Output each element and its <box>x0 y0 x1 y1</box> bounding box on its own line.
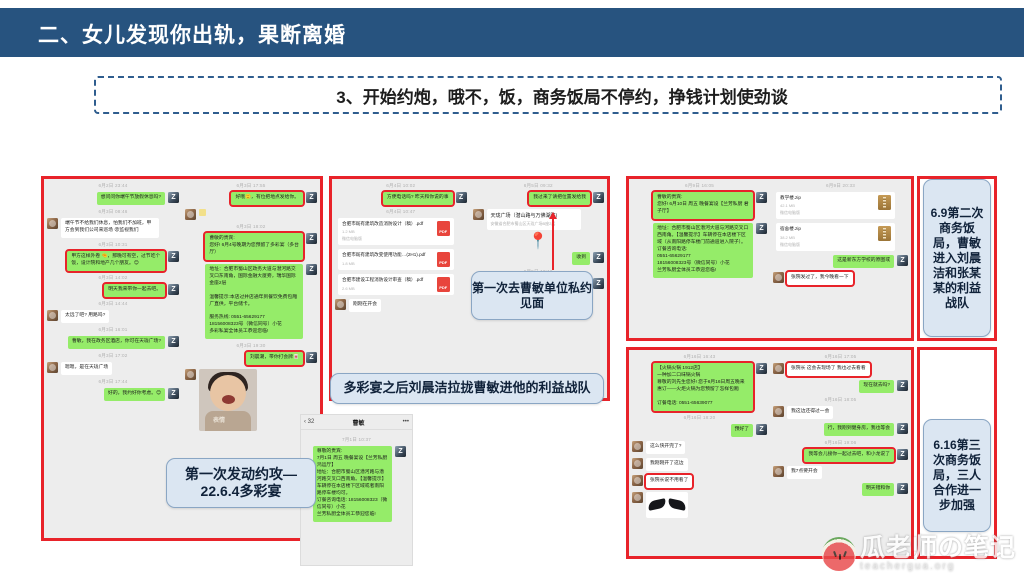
file-attachment[interactable]: 合肥市既有建筑改变使用功能…(2H1).pdf1.8 MBPDF <box>338 249 454 270</box>
avatar-self[interactable] <box>756 223 767 234</box>
file-name: 合肥市建设工程消防设计审查（稿）.pdf <box>342 277 434 283</box>
watermark-title: 瓜老师の笔记 <box>860 536 1016 561</box>
avatar-contact[interactable] <box>185 209 196 220</box>
message-row: 明天我来带你一起去吧。 <box>44 284 182 297</box>
message-bubble-highlighted[interactable]: 曹敏的贵宾: 您好! 6月10日 周五 晚餐宴设【兰芳私厨 君子厅】 <box>653 192 753 219</box>
pdf-file-icon: PDF <box>437 277 450 292</box>
message-row <box>182 209 320 220</box>
message-bubble[interactable]: 这么快开完了? <box>646 441 685 454</box>
watermark: 瓜老师の笔记 teachergua.org <box>822 536 1016 572</box>
message-row: 尊敬的贵宾: 7月1日 周五 晚餐宴设【兰芳私厨 鸿运厅】 地址：合肥市蜀山区潜… <box>304 446 409 522</box>
message-timestamp: 6月3日 16:01 <box>44 327 182 333</box>
avatar-self[interactable] <box>756 424 767 435</box>
message-bubble-highlighted[interactable]: 【火锅火锅 1912店】 一种加二口味锅火锅 尊敬的刘先生您好! 您于6月16日… <box>653 363 753 411</box>
subtitle-box: 3、开始约炮，哦不，饭，商务饭局不停约，挣钱计划使劲谈 <box>94 76 1002 114</box>
chat-column[interactable]: 6月16日 17:05张院长 这会去现场了 我也过去看看现在就去吗?6月16日 … <box>770 350 911 556</box>
back-icon[interactable]: ‹ 32 <box>304 419 314 425</box>
message-bubble[interactable]: 我7点要开会 <box>787 466 822 479</box>
file-name: 宿舍楼.zip <box>780 226 875 232</box>
message-row: 太远了吧? 用路吗? <box>44 310 182 323</box>
file-source: 微信电脑版 <box>780 210 875 216</box>
zip-file-icon <box>878 195 891 210</box>
location-title: 天珑广场（潜山路与万佛湖路) <box>491 212 578 219</box>
message-timestamp: 6月4日 10:47 <box>332 209 470 215</box>
message-timestamp: 6月16日 19:06 <box>770 440 911 446</box>
avatar-self[interactable] <box>306 233 317 244</box>
callout-recruit-team: 多彩宴之后刘晨洁拉拢曹敏进他的利益战队 <box>330 373 604 404</box>
message-timestamp: 6月3日 08:46 <box>44 209 182 215</box>
chat-window-titlebar: ‹ 32 曹敏 ••• <box>301 415 412 430</box>
chat-column[interactable]: 6月2日 23:44想问问你端午节放假休息吗?6月3日 08:46端午节不给我们… <box>44 179 182 538</box>
avatar-contact[interactable] <box>473 209 484 220</box>
message-bubble-highlighted[interactable]: 我等会儿接你一起过去吧，和小龙说了 <box>804 449 894 462</box>
callout-second-dinner: 6.9第二次商务饭局，曹敏进入刘晨洁和张某某的利益战队 <box>923 179 991 337</box>
more-options-icon[interactable]: ••• <box>403 419 409 425</box>
page-title: 二、女儿发现你出轨，果断离婚 <box>38 19 346 49</box>
message-row: 预好了 <box>629 424 770 437</box>
message-timestamp: 6月3日 17:44 <box>44 379 182 385</box>
avatar-self[interactable] <box>897 255 908 266</box>
avatar-self[interactable] <box>593 192 604 203</box>
message-bubble[interactable]: 明天错和你 <box>862 483 894 496</box>
location-address: 安徽省合肥市蜀山区天珑广场B座2层 <box>491 221 578 227</box>
message-row: 我过来了请把位置发给我 <box>470 192 608 205</box>
chat-column[interactable]: 6月4日 10:02方便电话吗? 昨天和你说的事6月4日 10:47合肥市既有建… <box>332 179 470 398</box>
avatar-contact[interactable] <box>185 369 196 380</box>
message-row: 张院长说不用看了 <box>629 475 770 488</box>
message-timestamp: 6月16日 18:05 <box>770 397 911 403</box>
message-bubble-highlighted[interactable]: 刘晨潮，带你打会牌🀄 <box>246 352 303 365</box>
avatar-contact[interactable] <box>632 441 643 452</box>
message-row: 【火锅火锅 1912店】 一种加二口味锅火锅 尊敬的刘先生您好! 您于6月16日… <box>629 363 770 411</box>
callout-first-invite: 第一次发动约攻—22.6.4多彩宴 <box>166 458 316 508</box>
avatar-self[interactable] <box>306 264 317 275</box>
message-row: 刘晨潮，带你打会牌🀄 <box>182 352 320 365</box>
message-row: 想问问你端午节放假休息吗? <box>44 192 182 205</box>
sticker-message[interactable] <box>646 492 688 518</box>
avatar-self[interactable] <box>306 352 317 363</box>
message-row <box>629 492 770 518</box>
watermelon-icon <box>822 537 856 571</box>
message-row: 这是新东方学校的原图或 <box>770 255 911 268</box>
message-timestamp: 6月16日 17:05 <box>770 354 911 360</box>
pdf-file-icon: PDF <box>437 221 450 236</box>
avatar-self[interactable] <box>395 446 406 457</box>
message-row: 合肥市建设工程消防设计审查（稿）.pdf2.6 MBPDF <box>332 274 470 295</box>
avatar-contact[interactable] <box>632 475 643 486</box>
avatar-self[interactable] <box>756 192 767 203</box>
message-timestamp: 6月3日 17:02 <box>44 353 182 359</box>
avatar-contact[interactable] <box>335 299 346 310</box>
message-bubble[interactable]: 我刚刚开了这边 <box>646 458 688 471</box>
file-size: 42.1 MB <box>780 203 875 208</box>
message-row: 合肥市既有建筑改变使用功能…(2H1).pdf1.8 MBPDF <box>332 249 470 270</box>
file-source: 微信电脑版 <box>342 236 434 242</box>
message-timestamp: 6月3日 14:02 <box>44 275 182 281</box>
message-row: 好的，我约好你考虑。😊 <box>44 388 182 401</box>
avatar-self[interactable] <box>897 483 908 494</box>
message-row: 地址：合肥市蜀山区潜河大道与河路交叉口西南角。【温馨提示】车辆停在本店楼下区域（… <box>629 223 770 278</box>
message-row: 张院发过了，我今晚看一下 <box>770 272 911 285</box>
file-size: 1.2 MB <box>342 229 434 234</box>
callout-third-dinner: 6.16第三次商务饭局，三人合作进一步加强 <box>923 419 991 532</box>
avatar-self[interactable] <box>168 388 179 399</box>
message-bubble[interactable]: 我这边还得过一会 <box>787 406 833 419</box>
message-bubble[interactable]: 曹敏，我在政务区酒店，你可在天珑广场? <box>68 336 165 349</box>
message-bubble-highlighted[interactable]: 曹敏的贵宾: 您好! 6月4号晚期为您预留了多彩宴（多台厅） <box>205 233 303 260</box>
avatar-self[interactable] <box>897 423 908 434</box>
avatar-contact[interactable] <box>632 492 643 503</box>
file-attachment[interactable]: 合肥市既有建筑改造消防设计（稿）.pdf1.2 MB微信电脑版PDF <box>338 218 454 245</box>
message-bubble[interactable]: 端午节不给我们休息，怕我们不加班，甲方会到我们公司来巡场 😡监视我们 <box>61 218 159 238</box>
message-row: 宿舍楼.zip38.2 MB微信电脑版 <box>770 223 911 250</box>
message-bubble[interactable]: 收到 <box>572 252 590 265</box>
message-bubble[interactable]: 地址：合肥市蜀山区政务大道与潜河路交叉口东南角，国际金融大厦旁，瑞华国际金座2层… <box>205 264 303 340</box>
screenshot-panel-right-top: 6月9日 16:05曹敏的贵宾: 您好! 6月10日 周五 晚餐宴设【兰芳私厨 … <box>626 176 914 341</box>
avatar-contact[interactable] <box>47 310 58 321</box>
file-name: 合肥市既有建筑改变使用功能…(2H1).pdf <box>342 252 434 258</box>
avatar-contact[interactable] <box>47 218 58 229</box>
message-row: 天珑广场（潜山路与万佛湖路)安徽省合肥市蜀山区天珑广场B座2层 <box>470 209 608 230</box>
message-timestamp: 6月9日 20:33 <box>770 183 911 189</box>
message-timestamp: 6月5日 09:32 <box>470 183 608 189</box>
file-size: 38.2 MB <box>780 235 875 240</box>
chat-window-title: 曹敏 <box>353 418 365 427</box>
message-timestamp: 6月9日 16:05 <box>629 183 770 189</box>
message-bubble[interactable]: 行，我刚到健身房，我也等会 <box>824 423 894 436</box>
message-timestamp: 6月4日 10:02 <box>332 183 470 189</box>
message-row: 地址：合肥市蜀山区政务大道与潜河路交叉口东南角，国际金融大厦旁，瑞华国际金座2层… <box>182 264 320 340</box>
message-bubble[interactable]: 现在就去吗? <box>859 380 894 393</box>
message-bubble[interactable]: 这是新东方学校的原图或 <box>833 255 894 268</box>
message-bubble[interactable]: 刚刚在开会 <box>349 299 381 312</box>
avatar-self[interactable] <box>168 192 179 203</box>
message-bubble-highlighted[interactable]: 甲方这样外卷 🤏，那晚可有空，过节吃个饭，设计院和地产几个朋友。😊 <box>67 251 165 271</box>
message-row: 甲方这样外卷 🤏，那晚可有空，过节吃个饭，设计院和地产几个朋友。😊 <box>44 251 182 271</box>
avatar-self[interactable] <box>168 251 179 262</box>
message-row: 曹敏的贵宾: 您好! 6月4号晚期为您预留了多彩宴（多台厅） <box>182 233 320 260</box>
message-bubble[interactable]: 好的，我约好你考虑。😊 <box>104 388 165 401</box>
avatar-self[interactable] <box>306 192 317 203</box>
watermark-url: teachergua.org <box>860 561 1016 572</box>
message-row: 现在就去吗? <box>770 380 911 393</box>
chat-column[interactable]: 6月16日 16:43【火锅火锅 1912店】 一种加二口味锅火锅 尊敬的刘先生… <box>629 350 770 556</box>
image-message[interactable]: 表情 <box>199 369 257 431</box>
message-bubble-highlighted[interactable]: 张院发过了，我今晚看一下 <box>787 272 853 285</box>
message-timestamp: 6月3日 17:55 <box>182 183 320 189</box>
message-bubble[interactable]: 太远了吧? 用路吗? <box>61 310 109 323</box>
file-name: 教学楼.zip <box>780 195 875 201</box>
message-timestamp: 6月2日 23:44 <box>44 183 182 189</box>
message-row: 行，我刚到健身房，我也等会 <box>770 423 911 436</box>
message-row: 刚刚在开会 <box>332 299 470 312</box>
file-source: 微信电脑版 <box>780 242 875 248</box>
message-bubble[interactable]: 预好了 <box>731 424 753 437</box>
message-row: 我7点要开会 <box>770 466 911 479</box>
message-row: 这么快开完了? <box>629 441 770 454</box>
subtitle-text: 3、开始约炮，哦不，饭，商务饭局不停约，挣钱计划使劲谈 <box>336 83 787 108</box>
emoji-sticker[interactable] <box>199 209 206 216</box>
location-pin-icon: 📍 <box>470 234 608 250</box>
file-size: 2.6 MB <box>342 286 434 291</box>
message-bubble-highlighted[interactable]: 好哦🙂，有位把地点发给你。 <box>231 192 303 205</box>
message-timestamp: 6月3日 19:30 <box>182 343 320 349</box>
slide-root: 二、女儿发现你出轨，果断离婚 3、开始约炮，哦不，饭，商务饭局不停约，挣钱计划使… <box>0 0 1024 576</box>
avatar-self[interactable] <box>593 278 604 289</box>
message-row: 端午节不给我们休息，怕我们不加班，甲方会到我们公司来巡场 😡监视我们 <box>44 218 182 238</box>
avatar-contact[interactable] <box>47 362 58 373</box>
message-row: 我这边还得过一会 <box>770 406 911 419</box>
avatar-contact[interactable] <box>632 458 643 469</box>
location-card[interactable]: 天珑广场（潜山路与万佛湖路)安徽省合肥市蜀山区天珑广场B座2层 <box>487 209 582 230</box>
message-row: 明天错和你 <box>770 483 911 496</box>
chat-column[interactable]: 6月9日 20:33教学楼.zip42.1 MB微信电脑版宿舍楼.zip38.2… <box>770 179 911 338</box>
chat-window-caomin[interactable]: ‹ 32 曹敏 ••• 7月1日 10:37尊敬的贵宾: 7月1日 周五 晚餐宴… <box>300 414 413 566</box>
avatar-contact[interactable] <box>773 466 784 477</box>
message-row: 教学楼.zip42.1 MB微信电脑版 <box>770 192 911 219</box>
message-bubble[interactable]: 想问问你端午节放假休息吗? <box>97 192 165 205</box>
file-attachment[interactable]: 合肥市建设工程消防设计审查（稿）.pdf2.6 MBPDF <box>338 274 454 295</box>
message-row: 收到 <box>470 252 608 265</box>
message-bubble-highlighted[interactable]: 明天我来带你一起去吧。 <box>104 284 165 297</box>
message-timestamp: 6月16日 16:43 <box>629 354 770 360</box>
message-timestamp: 6月16日 18:20 <box>629 415 770 421</box>
message-row: 曹敏的贵宾: 您好! 6月10日 周五 晚餐宴设【兰芳私厨 君子厅】 <box>629 192 770 219</box>
avatar-self[interactable] <box>456 192 467 203</box>
zip-file-icon <box>878 226 891 241</box>
message-row: 张院长 这会去现场了 我也过去看看 <box>770 363 911 376</box>
file-attachment[interactable]: 教学楼.zip42.1 MB微信电脑版 <box>776 192 895 219</box>
avatar-self[interactable] <box>168 336 179 347</box>
message-row: 我等会儿接你一起过去吧，和小龙说了 <box>770 449 911 462</box>
file-attachment[interactable]: 宿舍楼.zip38.2 MB微信电脑版 <box>776 223 895 250</box>
avatar-self[interactable] <box>593 252 604 263</box>
chat-column[interactable]: 6月9日 16:05曹敏的贵宾: 您好! 6月10日 周五 晚餐宴设【兰芳私厨 … <box>629 179 770 338</box>
message-timestamp: 6月3日 10:31 <box>44 242 182 248</box>
message-row: 曹敏，我在政务区酒店，你可在天珑广场? <box>44 336 182 349</box>
message-row: 方便电话吗? 昨天和你说的事 <box>332 192 470 205</box>
avatar-self[interactable] <box>897 449 908 460</box>
chat-window-body: 7月1日 10:37尊敬的贵宾: 7月1日 周五 晚餐宴设【兰芳私厨 鸿运厅】 … <box>301 430 412 529</box>
message-bubble-highlighted[interactable]: 方便电话吗? 昨天和你说的事 <box>383 192 453 205</box>
avatar-contact[interactable] <box>773 363 784 374</box>
message-bubble[interactable]: 地址：合肥市蜀山区潜河大道与河路交叉口西南角。【温馨提示】车辆停在本店楼下区域（… <box>653 223 753 278</box>
message-bubble-highlighted[interactable]: 张院长说不用看了 <box>646 475 692 488</box>
avatar-self[interactable] <box>168 284 179 295</box>
red-arrow-annotation <box>552 218 554 270</box>
message-row: 合肥市既有建筑改造消防设计（稿）.pdf1.2 MB微信电脑版PDF <box>332 218 470 245</box>
message-row: 嗯嗯，是在天珑广场 <box>44 362 182 375</box>
message-bubble-highlighted[interactable]: 我过来了请把位置发给我 <box>529 192 590 205</box>
message-timestamp: 6月3日 14:44 <box>44 301 182 307</box>
message-bubble-highlighted[interactable]: 张院长 这会去现场了 我也过去看看 <box>787 363 870 376</box>
pdf-file-icon: PDF <box>437 252 450 267</box>
avatar-self[interactable] <box>756 363 767 374</box>
avatar-contact[interactable] <box>773 272 784 283</box>
message-timestamp: 7月1日 10:37 <box>304 437 409 443</box>
message-row: 好哦🙂，有位把地点发给你。 <box>182 192 320 205</box>
message-bubble[interactable]: 尊敬的贵宾: 7月1日 周五 晚餐宴设【兰芳私厨 鸿运厅】 地址：合肥市蜀山区潜… <box>313 446 392 522</box>
file-name: 合肥市既有建筑改造消防设计（稿）.pdf <box>342 221 434 227</box>
avatar-contact[interactable] <box>773 406 784 417</box>
avatar-self[interactable] <box>897 380 908 391</box>
file-size: 1.8 MB <box>342 261 434 266</box>
callout-first-private-meeting: 第一次去曹敏单位私约见面 <box>471 271 593 320</box>
message-timestamp: 6月3日 18:02 <box>182 224 320 230</box>
screenshot-panel-right-bottom: 6月16日 16:43【火锅火锅 1912店】 一种加二口味锅火锅 尊敬的刘先生… <box>626 347 914 559</box>
message-bubble[interactable]: 嗯嗯，是在天珑广场 <box>61 362 112 375</box>
message-row: 我刚刚开了这边 <box>629 458 770 471</box>
